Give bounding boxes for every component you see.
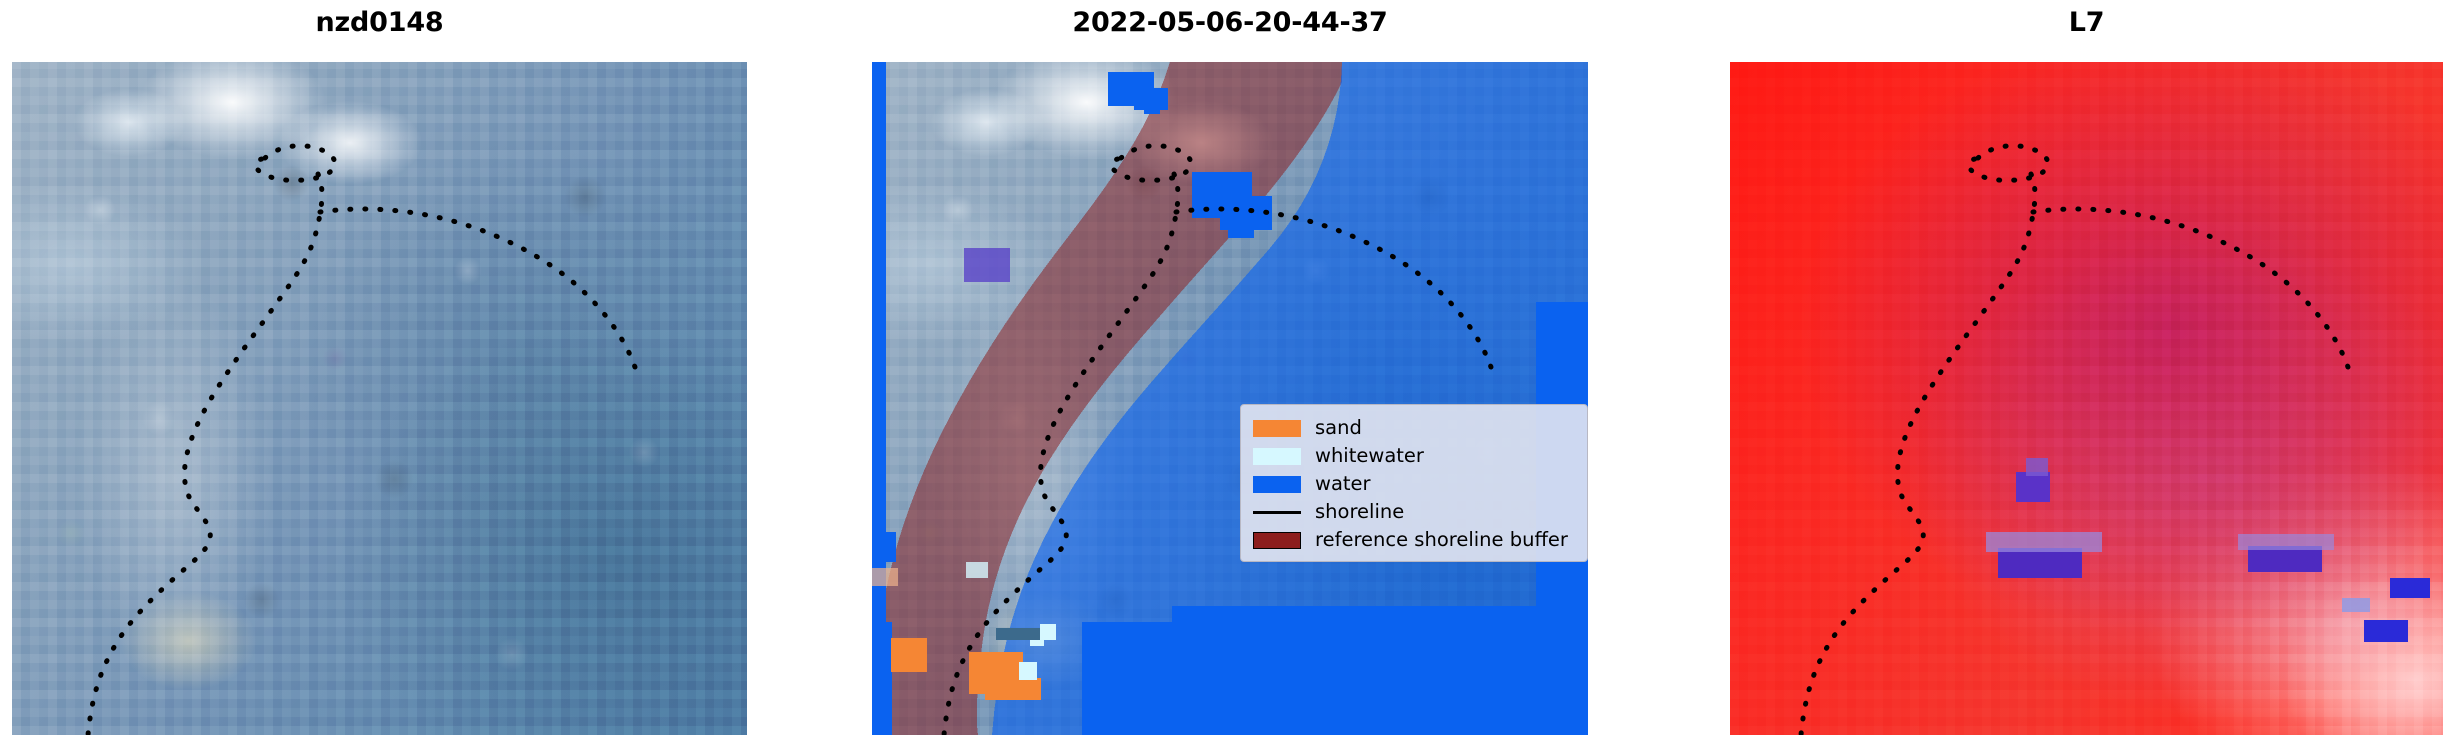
- shoreline-spit-path-3: [2033, 209, 2349, 370]
- shoreline-loop-path-3: [1968, 146, 2048, 181]
- page-title-panel-3: L7: [1730, 6, 2443, 40]
- legend-item-reference-buffer: reference shoreline buffer: [1253, 526, 1575, 554]
- legend-label-whitewater: whitewater: [1315, 446, 1424, 466]
- classified-image-panel[interactable]: [872, 62, 1588, 735]
- shoreline-main-path-3: [1801, 174, 2035, 735]
- shoreline-spit-path: [320, 209, 636, 370]
- page-title-panel-2: 2022-05-06-20-44-37: [872, 6, 1588, 40]
- legend-item-sand: sand: [1253, 414, 1575, 442]
- shoreline-line-icon: [1253, 511, 1301, 514]
- legend-box: sand whitewater water shoreline referenc…: [1240, 404, 1588, 562]
- whitewater-swatch-icon: [1253, 448, 1301, 465]
- page-title-panel-1: nzd0148: [12, 6, 747, 40]
- nir-image-panel[interactable]: [1730, 62, 2443, 735]
- shoreline-spit-path-2: [1176, 209, 1492, 370]
- reference-shoreline-overlay: [12, 62, 747, 735]
- legend-label-reference-buffer: reference shoreline buffer: [1315, 530, 1568, 550]
- shoreline-loop-path: [255, 146, 335, 181]
- legend-item-shoreline: shoreline: [1253, 498, 1575, 526]
- legend-label-water: water: [1315, 474, 1371, 494]
- legend-label-shoreline: shoreline: [1315, 502, 1404, 522]
- figure-canvas: nzd0148 2022-05-06-20-44-37 L7: [0, 0, 2460, 751]
- reference-buffer-swatch-icon: [1253, 532, 1301, 549]
- satellite-image-panel-rgb[interactable]: [12, 62, 747, 735]
- water-swatch-icon: [1253, 476, 1301, 493]
- shoreline-main-path: [88, 174, 322, 735]
- legend-item-whitewater: whitewater: [1253, 442, 1575, 470]
- shoreline-main-path-2: [944, 174, 1178, 735]
- shoreline-overlay-panel-2: [872, 62, 1588, 735]
- sand-swatch-icon: [1253, 420, 1301, 437]
- shoreline-loop-path-2: [1111, 146, 1191, 181]
- legend-label-sand: sand: [1315, 418, 1362, 438]
- legend-item-water: water: [1253, 470, 1575, 498]
- shoreline-overlay-panel-3: [1730, 62, 2443, 735]
